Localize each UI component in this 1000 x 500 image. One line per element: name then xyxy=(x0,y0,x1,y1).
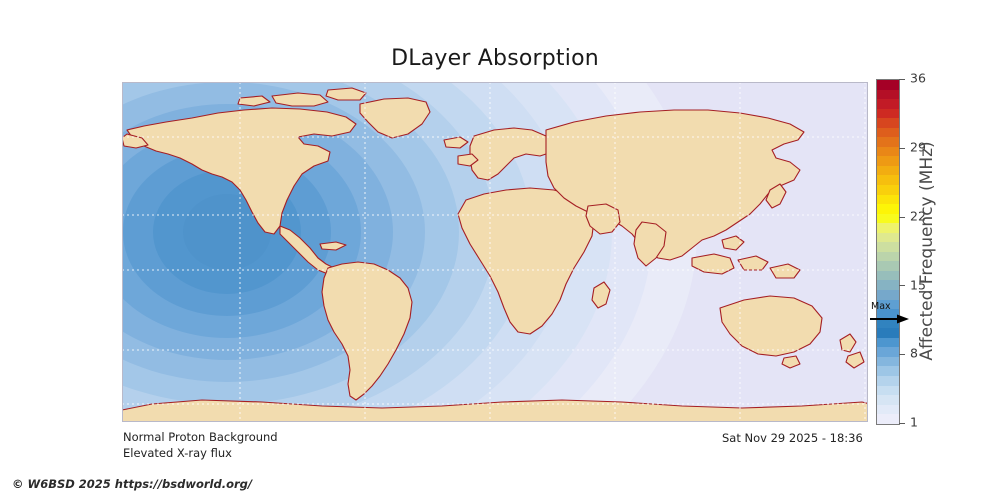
colorbar-swatch xyxy=(877,395,899,405)
colorbar-swatch xyxy=(877,290,899,300)
colorbar-swatch xyxy=(877,147,899,157)
colorbar-swatch xyxy=(877,280,899,290)
colorbar-swatch xyxy=(877,300,899,310)
colorbar-swatch xyxy=(877,204,899,214)
colorbar-tick: 1 xyxy=(899,423,918,424)
colorbar-swatch xyxy=(877,80,899,90)
colorbar-swatch xyxy=(877,109,899,119)
page-title: DLayer Absorption xyxy=(0,46,990,71)
tick-dash xyxy=(899,79,905,80)
colorbar-swatch xyxy=(877,386,899,396)
colorbar-swatch xyxy=(877,319,899,329)
map-canvas xyxy=(122,82,868,422)
tick-dash xyxy=(899,354,905,355)
colorbar-swatch xyxy=(877,137,899,147)
colorbar-swatch xyxy=(877,214,899,224)
tick-dash xyxy=(899,217,905,218)
timestamp: Sat Nov 29 2025 - 18:36 xyxy=(722,431,863,445)
colorbar-swatch xyxy=(877,195,899,205)
colorbar-swatch xyxy=(877,118,899,128)
colorbar-swatch xyxy=(877,357,899,367)
world-map[interactable] xyxy=(122,82,868,422)
colorbar-swatch xyxy=(877,338,899,348)
colorbar-swatch xyxy=(877,166,899,176)
colorbar-swatch xyxy=(877,366,899,376)
tick-dash xyxy=(899,423,905,424)
colorbar-swatch xyxy=(877,405,899,415)
colorbar-swatch xyxy=(877,252,899,262)
colorbar-swatch xyxy=(877,90,899,100)
credit-line: © W6BSD 2025 https://bsdworld.org/ xyxy=(12,477,252,491)
colorbar-swatch xyxy=(877,233,899,243)
colorbar[interactable] xyxy=(876,79,900,425)
note-proton-background: Normal Proton Background xyxy=(123,430,278,444)
colorbar-axis-label: Affected Frequency (MHz) xyxy=(916,79,938,423)
tick-dash xyxy=(899,148,905,149)
colorbar-swatch xyxy=(877,347,899,357)
colorbar-swatch xyxy=(877,242,899,252)
note-xray-flux: Elevated X-ray flux xyxy=(123,446,232,460)
colorbar-swatch xyxy=(877,156,899,166)
colorbar-swatch xyxy=(877,309,899,319)
colorbar-swatch xyxy=(877,128,899,138)
colorbar-swatch xyxy=(877,99,899,109)
colorbar-swatch xyxy=(877,376,899,386)
tick-dash xyxy=(899,285,905,286)
colorbar-swatch xyxy=(877,414,899,424)
colorbar-swatch xyxy=(877,271,899,281)
colorbar-swatch xyxy=(877,328,899,338)
colorbar-swatch xyxy=(877,185,899,195)
colorbar-swatch xyxy=(877,261,899,271)
colorbar-swatch xyxy=(877,223,899,233)
plot-page: DLayer Absorption xyxy=(0,0,1000,500)
colorbar-swatch xyxy=(877,175,899,185)
